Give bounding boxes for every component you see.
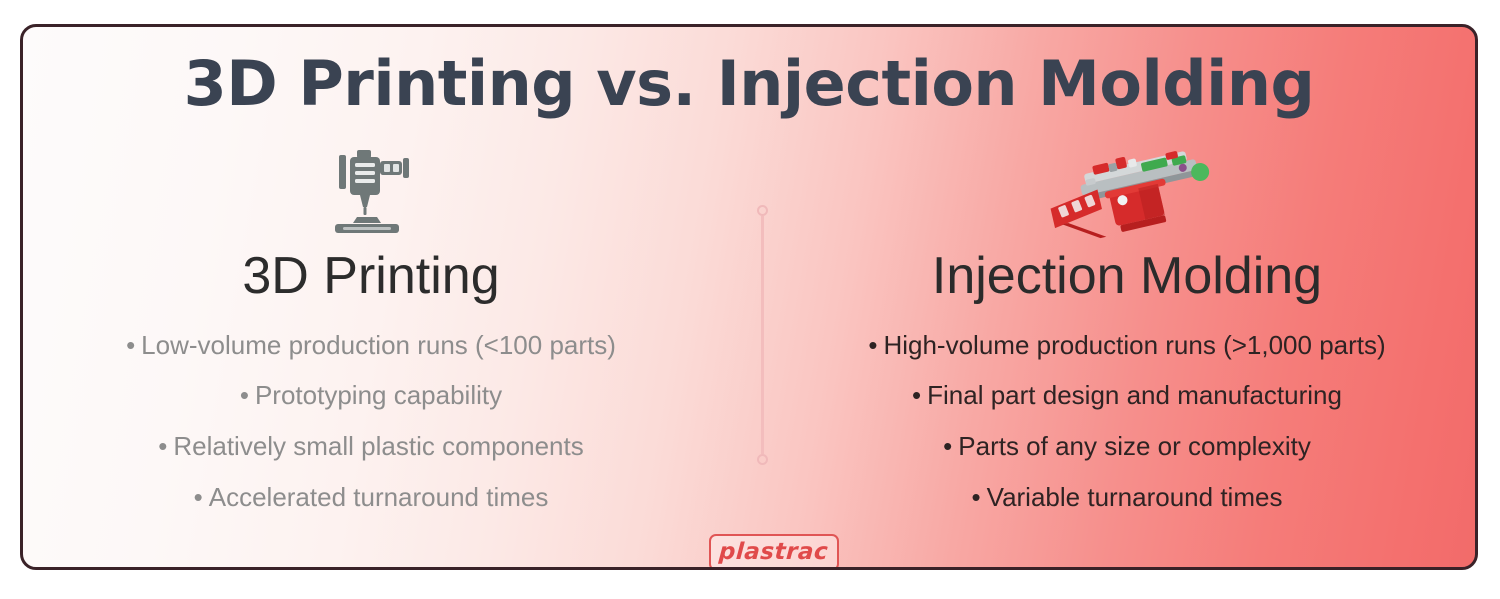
bullet-icon: • xyxy=(943,421,952,472)
list-item-label: Variable turnaround times xyxy=(987,482,1283,512)
column-heading-3d-printing: 3D Printing xyxy=(242,249,499,304)
list-item-label: Low-volume production runs (<100 parts) xyxy=(141,330,616,360)
list-item: •Parts of any size or complexity xyxy=(868,421,1385,472)
list-item-label: Prototyping capability xyxy=(255,380,502,410)
bullet-icon: • xyxy=(912,370,921,421)
comparison-card: 3D Printing vs. Injection Molding xyxy=(20,24,1478,570)
plastrac-logo-text: plastrac xyxy=(719,541,830,564)
column-heading-injection-molding: Injection Molding xyxy=(932,249,1322,304)
bullet-icon: • xyxy=(972,472,981,523)
list-item: •Variable turnaround times xyxy=(868,472,1385,523)
divider-line xyxy=(761,216,764,454)
plastrac-logo: plastrac xyxy=(709,534,839,570)
feature-list-3d-printing: •Low-volume production runs (<100 parts)… xyxy=(126,320,616,523)
column-3d-printing: 3D Printing •Low-volume production runs … xyxy=(23,145,719,538)
list-item: •Relatively small plastic components xyxy=(126,421,616,472)
column-injection-molding: Injection Molding •High-volume productio… xyxy=(779,145,1475,538)
bullet-icon: • xyxy=(126,320,135,371)
infographic-root: 3D Printing vs. Injection Molding xyxy=(0,0,1500,599)
list-item-label: High-volume production runs (>1,000 part… xyxy=(883,330,1385,360)
comparison-columns: 3D Printing •Low-volume production runs … xyxy=(23,145,1475,538)
bullet-icon: • xyxy=(240,370,249,421)
list-item: •High-volume production runs (>1,000 par… xyxy=(868,320,1385,371)
list-item: •Final part design and manufacturing xyxy=(868,370,1385,421)
page-title: 3D Printing vs. Injection Molding xyxy=(23,53,1475,115)
bullet-icon: • xyxy=(868,320,877,371)
list-item-label: Final part design and manufacturing xyxy=(927,380,1342,410)
vertical-divider xyxy=(754,205,770,465)
list-item-label: Relatively small plastic components xyxy=(173,431,583,461)
bullet-icon: • xyxy=(158,421,167,472)
bullet-icon: • xyxy=(194,472,203,523)
list-item: •Prototyping capability xyxy=(126,370,616,421)
3d-printer-icon xyxy=(317,145,425,241)
list-item: •Low-volume production runs (<100 parts) xyxy=(126,320,616,371)
divider-endpoint-top-icon xyxy=(757,205,768,216)
list-item-label: Parts of any size or complexity xyxy=(958,431,1311,461)
list-item-label: Accelerated turnaround times xyxy=(209,482,549,512)
injection-molding-machine-icon xyxy=(1027,145,1227,241)
feature-list-injection-molding: •High-volume production runs (>1,000 par… xyxy=(868,320,1385,523)
list-item: •Accelerated turnaround times xyxy=(126,472,616,523)
divider-endpoint-bottom-icon xyxy=(757,454,768,465)
